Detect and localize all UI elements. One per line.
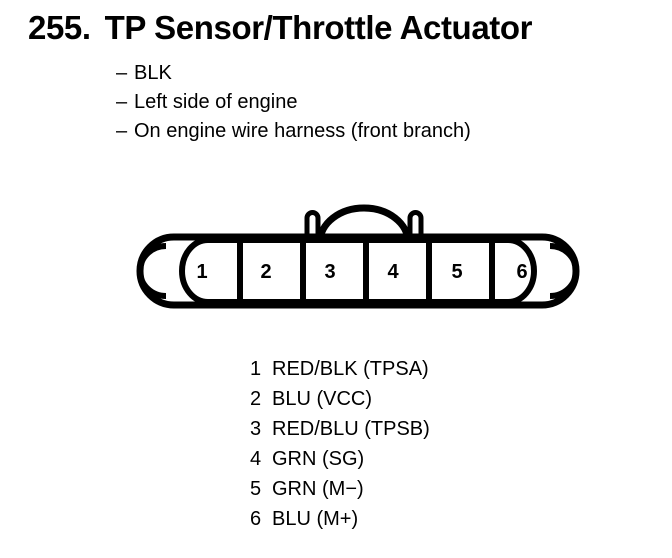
connector-svg: 1 2 3 4 5 6	[132, 196, 584, 314]
note-text: On engine wire harness (front branch)	[134, 117, 471, 146]
legend-pin-label: GRN (M−)	[272, 478, 364, 501]
dash-bullet-icon: –	[116, 59, 134, 88]
cavity-6-number: 6	[516, 261, 527, 283]
pin-legend: 1 RED/BLK (TPSA) 2 BLU (VCC) 3 RED/BLU (…	[250, 358, 650, 538]
page-title: 255.TP Sensor/Throttle Actuator	[28, 8, 532, 48]
legend-pin-label: BLU (VCC)	[272, 388, 372, 411]
note-item: – Left side of engine	[116, 88, 636, 117]
legend-row: 1 RED/BLK (TPSA)	[250, 358, 650, 388]
legend-pin-number: 3	[250, 418, 272, 441]
legend-pin-label: RED/BLU (TPSB)	[272, 418, 430, 441]
entry-title: TP Sensor/Throttle Actuator	[105, 8, 532, 48]
connector-diagram: 1 2 3 4 5 6	[132, 196, 584, 314]
cavity-2-number: 2	[260, 261, 271, 283]
note-text: Left side of engine	[134, 88, 297, 117]
legend-row: 3 RED/BLU (TPSB)	[250, 418, 650, 448]
cavity-4-number: 4	[387, 261, 399, 283]
legend-pin-label: BLU (M+)	[272, 508, 358, 531]
legend-pin-label: RED/BLK (TPSA)	[272, 358, 429, 381]
dash-bullet-icon: –	[116, 117, 134, 146]
cavity-3-number: 3	[324, 261, 335, 283]
legend-row: 4 GRN (SG)	[250, 448, 650, 478]
legend-pin-label: GRN (SG)	[272, 448, 364, 471]
legend-row: 6 BLU (M+)	[250, 508, 650, 538]
entry-number: 255.	[28, 8, 91, 48]
notes-list: – BLK – Left side of engine – On engine …	[116, 59, 636, 146]
cavity-6-box	[492, 240, 534, 302]
note-item: – On engine wire harness (front branch)	[116, 117, 636, 146]
legend-row: 5 GRN (M−)	[250, 478, 650, 508]
note-item: – BLK	[116, 59, 636, 88]
legend-pin-number: 5	[250, 478, 272, 501]
cavity-1-box	[182, 240, 240, 302]
legend-pin-number: 1	[250, 358, 272, 381]
legend-pin-number: 4	[250, 448, 272, 471]
legend-row: 2 BLU (VCC)	[250, 388, 650, 418]
cavity-1-number: 1	[196, 261, 207, 283]
cavity-5-number: 5	[451, 261, 462, 283]
legend-pin-number: 2	[250, 388, 272, 411]
note-text: BLK	[134, 59, 172, 88]
legend-pin-number: 6	[250, 508, 272, 531]
dash-bullet-icon: –	[116, 88, 134, 117]
